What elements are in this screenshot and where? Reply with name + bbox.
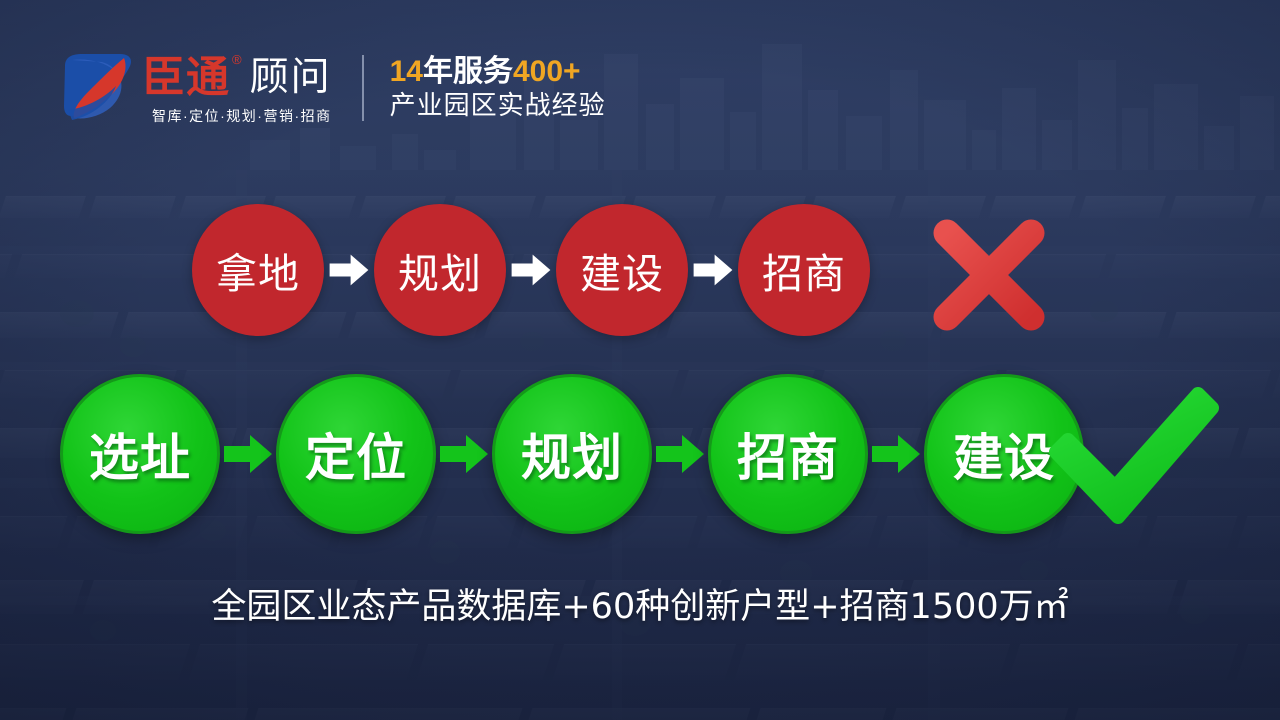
brand-name-cn: 臣通 [142, 56, 230, 100]
right-step-3[interactable]: 规划 [492, 374, 652, 534]
right-step-label: 定位 [305, 418, 407, 490]
right-step-label: 建设 [953, 418, 1055, 490]
arrow-right-icon [438, 433, 490, 475]
right-step-1[interactable]: 选址 [60, 374, 220, 534]
wrong-step-label: 规划 [398, 240, 482, 300]
arrow-right-icon [692, 253, 734, 287]
wrong-step-4[interactable]: 招商 [738, 204, 870, 336]
slogan-count: 400+ [513, 55, 581, 88]
wrong-step-1[interactable]: 拿地 [192, 204, 324, 336]
wrong-flow-row: 拿地 规划 建设 招商 [192, 204, 870, 336]
footer-tagline: 全园区业态产品数据库+60种创新户型+招商1500万㎡ [0, 578, 1280, 629]
wrong-step-label: 招商 [762, 240, 846, 300]
brand-header: 臣通 ® 顾问 智库·定位·规划·营销·招商 14年服务400+ 产业园区实战经… [62, 50, 606, 126]
registered-mark-icon: ® [232, 52, 242, 68]
wrong-step-2[interactable]: 规划 [374, 204, 506, 336]
arrow-right-icon [870, 433, 922, 475]
slogan-line2: 产业园区实战经验 [390, 91, 606, 121]
chentong-swoosh-logo-icon [62, 52, 136, 124]
right-step-label: 招商 [737, 418, 839, 490]
slide-stage: 臣通 ® 顾问 智库·定位·规划·营销·招商 14年服务400+ 产业园区实战经… [0, 0, 1280, 720]
right-step-2[interactable]: 定位 [276, 374, 436, 534]
brand-wordmark: 臣通 ® 顾问 智库·定位·规划·营销·招商 [142, 50, 332, 126]
slogan-middle: 年服务 [423, 55, 513, 88]
arrow-right-icon [510, 253, 552, 287]
slogan-years: 14 [390, 55, 423, 88]
brand-name-suffix: 顾问 [250, 56, 332, 100]
arrow-right-icon [328, 253, 370, 287]
brand-slogan: 14年服务400+ 产业园区实战经验 [390, 55, 606, 121]
wrong-step-label: 建设 [580, 240, 664, 300]
right-step-label: 选址 [89, 418, 191, 490]
right-step-label: 规划 [521, 418, 623, 490]
check-mark-icon [1048, 386, 1220, 532]
wrong-step-label: 拿地 [216, 240, 300, 300]
right-flow-row: 选址 定位 规划 招商 [60, 374, 1084, 534]
wrong-step-3[interactable]: 建设 [556, 204, 688, 336]
right-step-4[interactable]: 招商 [708, 374, 868, 534]
brand-services: 智库·定位·规划·营销·招商 [142, 106, 332, 126]
arrow-right-icon [222, 433, 274, 475]
arrow-right-icon [654, 433, 706, 475]
header-divider [362, 55, 364, 121]
x-mark-icon [930, 216, 1048, 334]
